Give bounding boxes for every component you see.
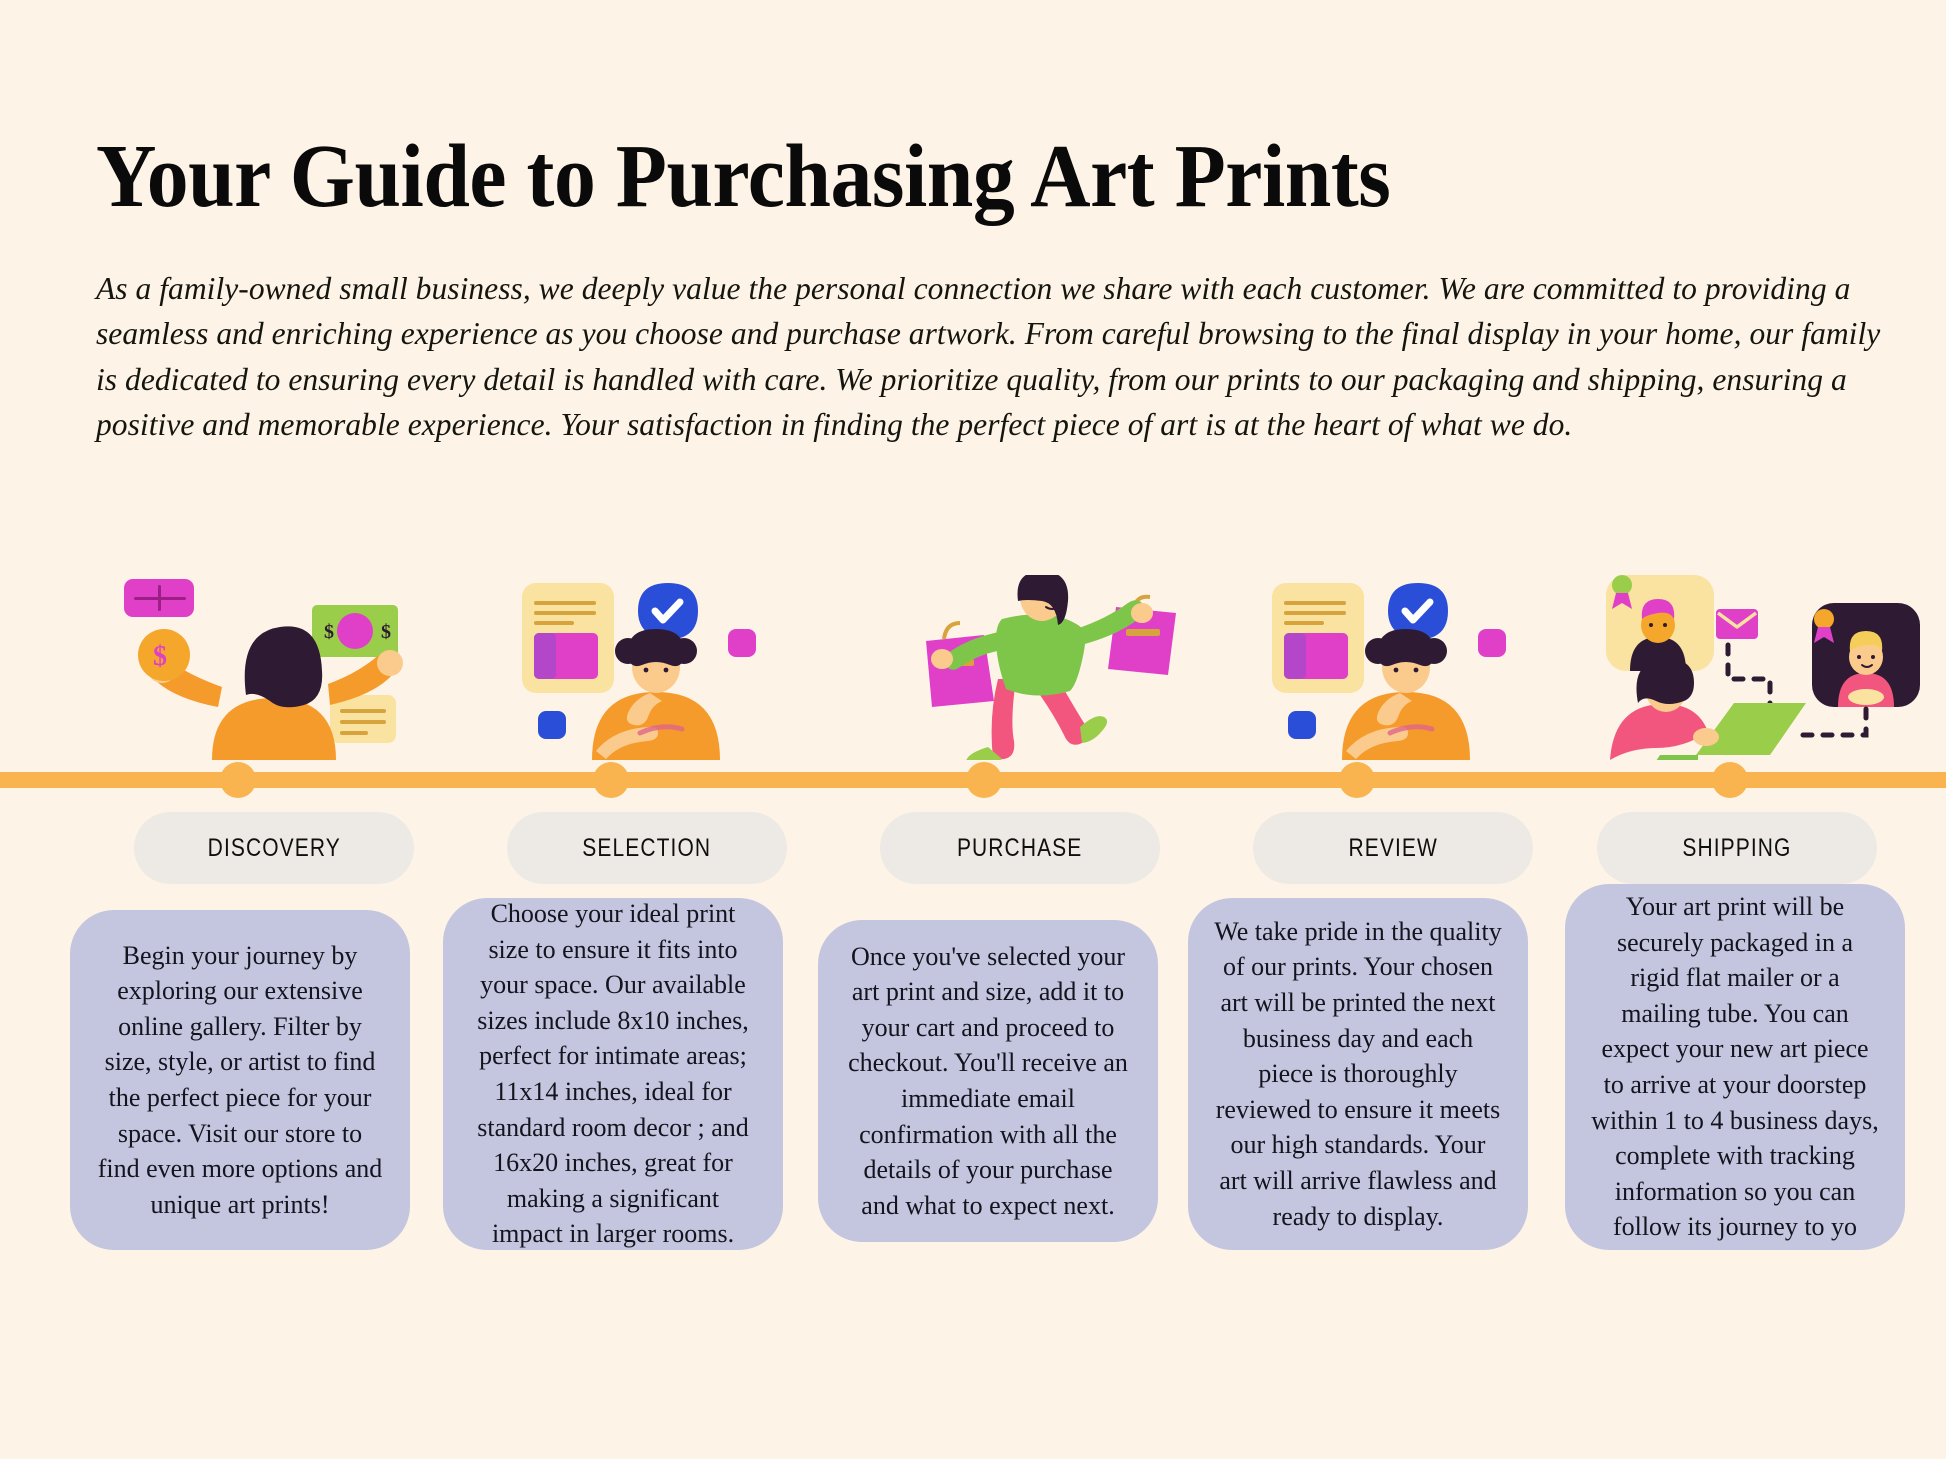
step-pill-selection[interactable]: SELECTION bbox=[507, 812, 787, 884]
timeline-dot-purchase bbox=[966, 762, 1002, 798]
illustration-review bbox=[1250, 575, 1598, 760]
description-text-discovery: Begin your journey by exploring our exte… bbox=[96, 938, 384, 1223]
header: Your Guide to Purchasing Art Prints As a… bbox=[96, 132, 1886, 447]
step-label-shipping: SHIPPING bbox=[1682, 834, 1791, 863]
step-label-selection: SELECTION bbox=[583, 834, 712, 863]
step-pill-discovery[interactable]: DISCOVERY bbox=[134, 812, 414, 884]
step-label-purchase: PURCHASE bbox=[957, 834, 1082, 863]
step-pill-shipping[interactable]: SHIPPING bbox=[1597, 812, 1877, 884]
person-reviewing-artwork-card-icon bbox=[1250, 575, 1598, 760]
intro-paragraph: As a family-owned small business, we dee… bbox=[96, 266, 1886, 447]
person-walking-with-shopping-bags-icon bbox=[880, 575, 1228, 760]
description-card-shipping: Your art print will be securely packaged… bbox=[1565, 884, 1905, 1250]
description-card-purchase: Once you've selected your art print and … bbox=[818, 920, 1158, 1242]
description-text-purchase: Once you've selected your art print and … bbox=[844, 939, 1132, 1224]
step-label-discovery: DISCOVERY bbox=[207, 834, 340, 863]
illustration-purchase bbox=[880, 575, 1228, 760]
step-pill-review[interactable]: REVIEW bbox=[1253, 812, 1533, 884]
description-text-shipping: Your art print will be securely packaged… bbox=[1591, 889, 1879, 1245]
page-title: Your Guide to Purchasing Art Prints bbox=[96, 132, 1761, 222]
person-thinking-with-artwork-card-icon bbox=[500, 575, 848, 760]
svg-text:$: $ bbox=[381, 621, 391, 643]
step-label-review: REVIEW bbox=[1348, 834, 1437, 863]
description-card-discovery: Begin your journey by exploring our exte… bbox=[70, 910, 410, 1250]
description-card-selection: Choose your ideal print size to ensure i… bbox=[443, 898, 783, 1250]
svg-text:$: $ bbox=[324, 621, 334, 643]
person-holding-money-coin-icon: $ $ $ bbox=[100, 575, 448, 760]
person-at-laptop-sending-mail-icon bbox=[1600, 575, 1946, 760]
description-card-review: We take pride in the quality of our prin… bbox=[1188, 898, 1528, 1250]
description-text-review: We take pride in the quality of our prin… bbox=[1214, 914, 1502, 1234]
timeline-dot-discovery bbox=[220, 762, 256, 798]
illustration-selection bbox=[500, 575, 848, 760]
timeline-dot-selection bbox=[593, 762, 629, 798]
timeline-dot-shipping bbox=[1712, 762, 1748, 798]
illustration-discovery: $ $ $ bbox=[100, 575, 448, 760]
description-text-selection: Choose your ideal print size to ensure i… bbox=[469, 896, 757, 1252]
step-pill-purchase[interactable]: PURCHASE bbox=[880, 812, 1160, 884]
illustration-shipping bbox=[1600, 575, 1946, 760]
svg-text:$: $ bbox=[153, 641, 167, 672]
timeline-dot-review bbox=[1339, 762, 1375, 798]
